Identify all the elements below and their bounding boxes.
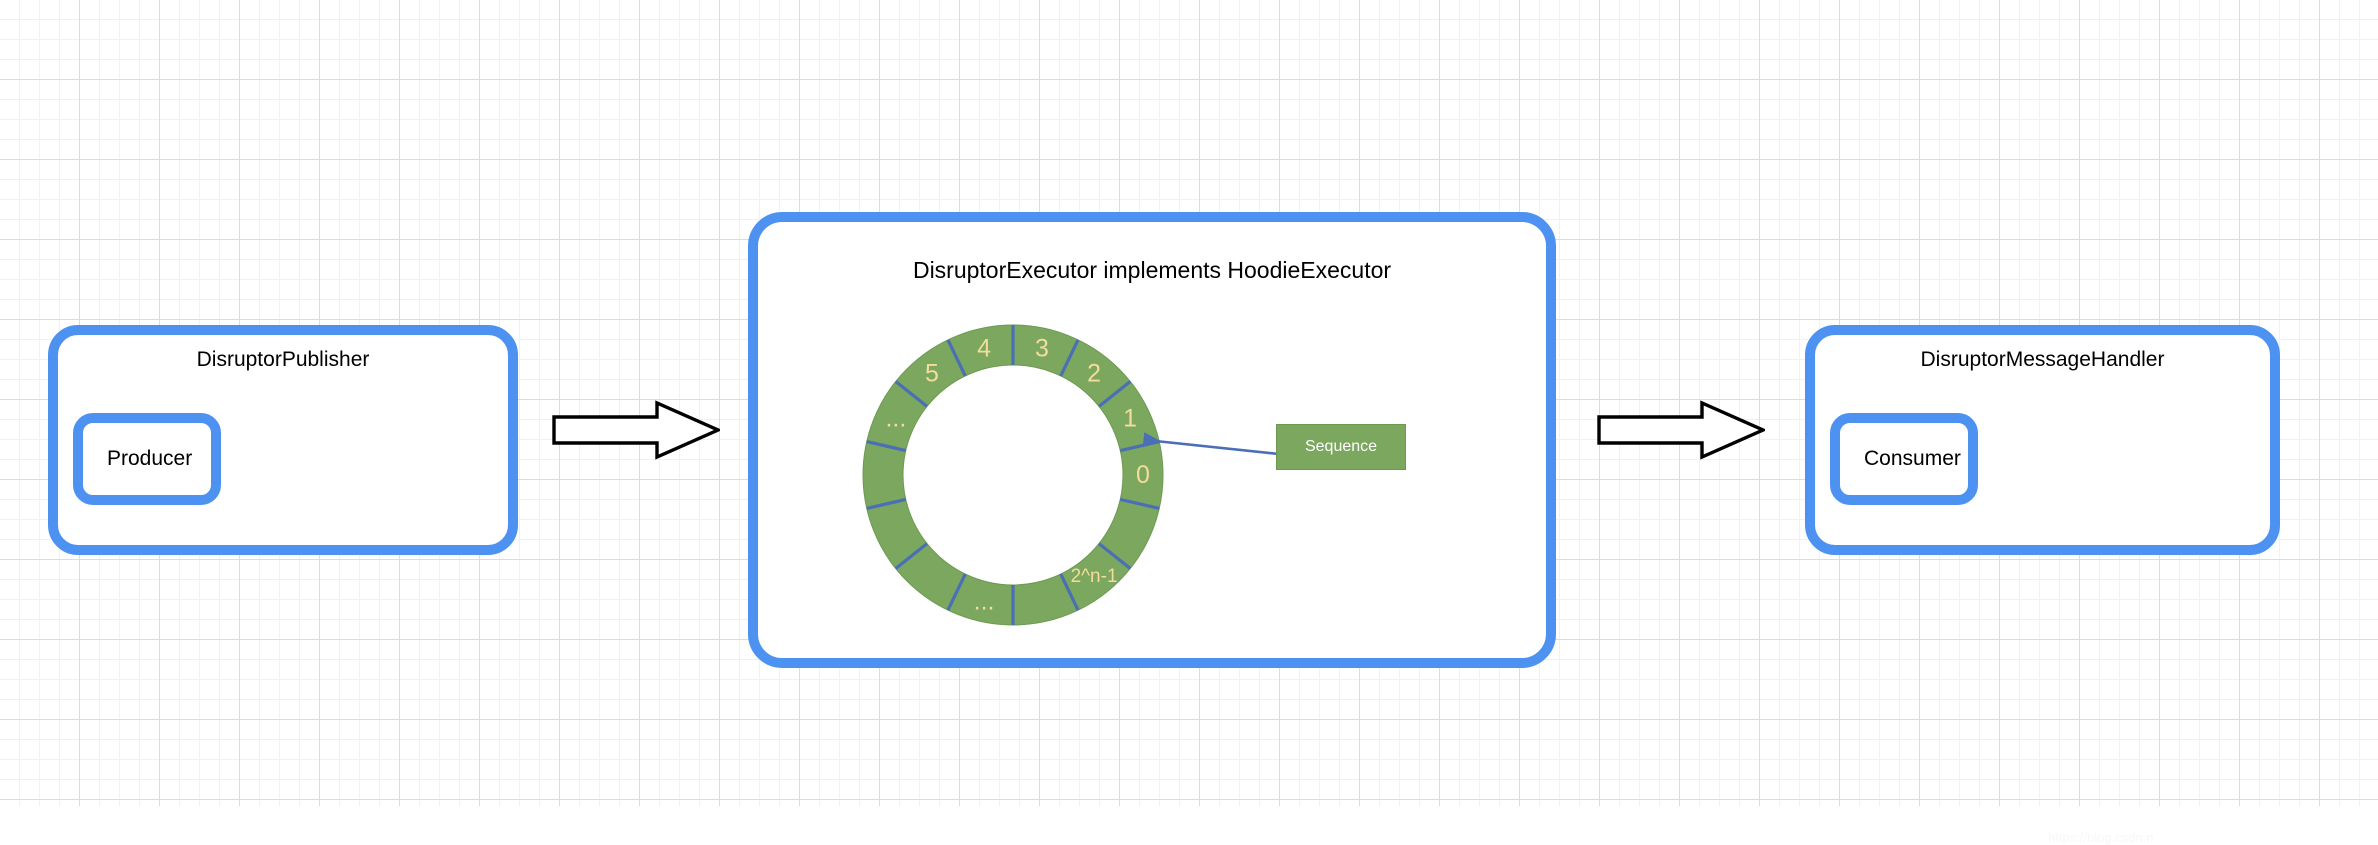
arrow-publisher-to-executor bbox=[552, 400, 720, 460]
producer-box[interactable]: Producer bbox=[73, 413, 221, 505]
consumer-box[interactable]: Consumer bbox=[1830, 413, 1978, 505]
ring-segment-group bbox=[863, 325, 1163, 625]
disruptor-publisher-title: DisruptorPublisher bbox=[58, 348, 508, 372]
block-arrow-shape bbox=[554, 403, 718, 457]
ring-buffer-svg: 32102^n-1......54 bbox=[843, 305, 1183, 645]
sequence-connector bbox=[1140, 415, 1290, 475]
ring-slot-label: ... bbox=[885, 405, 906, 433]
block-arrow-shape bbox=[1599, 403, 1763, 457]
ring-slot-label: 2^n-1 bbox=[1071, 566, 1118, 587]
sequence-tag[interactable]: Sequence bbox=[1276, 424, 1406, 470]
disruptor-message-handler-box[interactable]: DisruptorMessageHandler Consumer bbox=[1805, 325, 2280, 555]
consumer-label: Consumer bbox=[1864, 447, 1961, 471]
disruptor-executor-title: DisruptorExecutor implements HoodieExecu… bbox=[758, 257, 1546, 284]
producer-label: Producer bbox=[107, 447, 192, 471]
ring-slot-label: ... bbox=[974, 588, 995, 616]
ring-slot-label: 1 bbox=[1123, 405, 1137, 433]
sequence-pointer-line bbox=[1146, 440, 1288, 455]
disruptor-message-handler-title: DisruptorMessageHandler bbox=[1815, 348, 2270, 372]
arrow-executor-to-handler bbox=[1597, 400, 1765, 460]
watermark-text: https://blog.csdn.n bbox=[2048, 830, 2154, 845]
ring-buffer: 32102^n-1......54 bbox=[843, 305, 1183, 645]
disruptor-publisher-box[interactable]: DisruptorPublisher Producer bbox=[48, 325, 518, 555]
ring-annulus bbox=[863, 325, 1163, 625]
diagram-canvas: DisruptorPublisher Producer DisruptorExe… bbox=[0, 0, 2378, 806]
ring-slot-label: 4 bbox=[977, 334, 991, 362]
ring-slot-label: 5 bbox=[925, 359, 939, 387]
ring-slot-label: 2 bbox=[1087, 359, 1101, 387]
sequence-tag-label: Sequence bbox=[1305, 438, 1377, 456]
ring-slot-label: 3 bbox=[1035, 334, 1049, 362]
